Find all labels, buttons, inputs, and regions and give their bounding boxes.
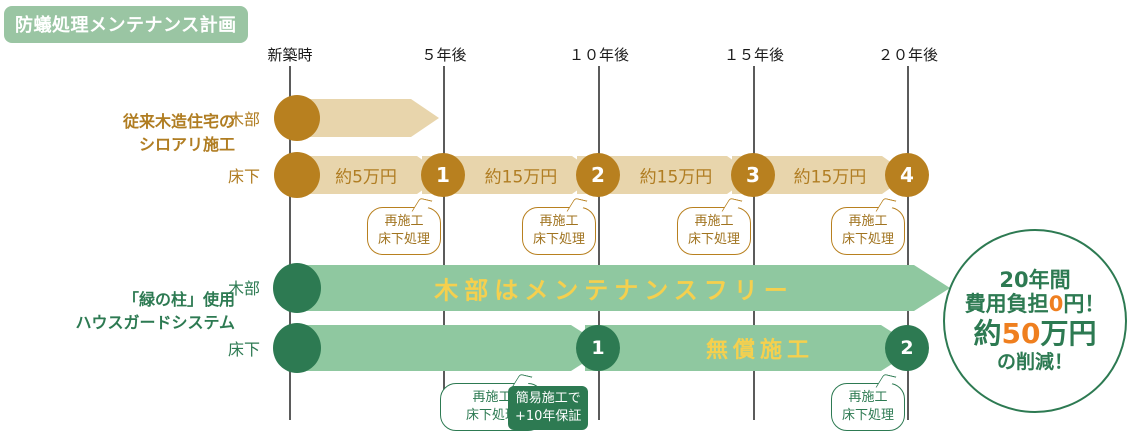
conventional-heading-line1: 従来木造住宅の (20, 110, 235, 133)
conventional-cost-2: 約15万円 (640, 163, 713, 188)
row-label-conventional-yukashita: 床下 (228, 163, 260, 187)
diagram-canvas: 防蟻処理メンテナンス計画 新築時 ５年後 １０年後 １５年後 ２０年後 従来木造… (0, 0, 1129, 433)
row-label-houseguard-kibu: 木部 (228, 275, 260, 299)
row-label-conventional-kibu: 木部 (228, 106, 260, 130)
conventional-callout-2-line1: 再施工 (688, 213, 740, 231)
callout-tail-icon (567, 198, 588, 215)
timeline-tick-label-0: 新築時 (267, 44, 312, 65)
result-badge: 20年間 費用負担0円！ 約50万円 の削減！ (943, 229, 1127, 413)
conventional-cost-1: 約15万円 (485, 163, 558, 188)
conventional-node-start[interactable] (274, 152, 320, 198)
houseguard-callout-1-line2: 床下処理 (842, 407, 894, 425)
conventional-callout-1: 再施工 床下処理 (522, 207, 596, 255)
houseguard-yukashita-bar-text: 無償施工 (706, 332, 814, 364)
conventional-cost-0: 約5万円 (335, 163, 397, 188)
conventional-heading-line2: シロアリ施工 (20, 133, 235, 156)
houseguard-node-2[interactable]: 2 (885, 325, 929, 371)
houseguard-kibu-node-start[interactable] (273, 263, 321, 313)
conventional-node-3[interactable]: 3 (731, 153, 775, 197)
conventional-callout-1-line1: 再施工 (533, 213, 585, 231)
page-title: 防蟻処理メンテナンス計画 (4, 6, 248, 43)
callout-tail-icon (722, 198, 743, 215)
conventional-node-4[interactable]: 4 (885, 153, 929, 197)
conventional-callout-3-line2: 床下処理 (842, 231, 894, 249)
houseguard-node-start[interactable] (273, 323, 321, 373)
timeline-tick-label-4: ２０年後 (878, 44, 938, 65)
houseguard-warranty-chip-line2: +10年保証 (515, 408, 581, 426)
timeline-tick-label-1: ５年後 (421, 44, 466, 65)
conventional-heading: 従来木造住宅の シロアリ施工 (20, 110, 235, 156)
conventional-node-2[interactable]: 2 (576, 153, 620, 197)
result-badge-line2: 費用負担0円！ (965, 292, 1106, 317)
conventional-kibu-node-start[interactable] (274, 95, 320, 141)
callout-tail-icon (876, 374, 897, 391)
houseguard-callout-1: 再施工 床下処理 (831, 383, 905, 431)
houseguard-warranty-chip: 簡易施工で +10年保証 (508, 386, 588, 430)
houseguard-warranty-chip-line1: 簡易施工で (515, 390, 581, 408)
houseguard-heading: 「緑の柱」使用 ハウスガードシステム (10, 288, 235, 334)
result-badge-line4: の削減！ (997, 351, 1073, 374)
conventional-node-1[interactable]: 1 (421, 153, 465, 197)
result-badge-line3-b: 50 (1002, 317, 1041, 350)
houseguard-callout-1-line1: 再施工 (842, 389, 894, 407)
conventional-callout-2-line2: 床下処理 (688, 231, 740, 249)
callout-tail-icon (876, 198, 897, 215)
conventional-callout-1-line2: 床下処理 (533, 231, 585, 249)
houseguard-node-1[interactable]: 1 (576, 325, 620, 371)
row-label-houseguard-yukashita: 床下 (228, 336, 260, 360)
result-badge-line3-a: 約 (974, 317, 1002, 350)
houseguard-kibu-bar-text: 木部はメンテナンスフリー (434, 271, 794, 306)
conventional-callout-3-line1: 再施工 (842, 213, 894, 231)
houseguard-heading-line2: ハウスガードシステム (10, 311, 235, 334)
result-badge-line1: 20年間 (999, 268, 1070, 292)
conventional-callout-0-line2: 床下処理 (378, 231, 430, 249)
result-badge-line2-c: 円！ (1063, 292, 1105, 316)
result-badge-line2-a: 費用負担 (965, 292, 1049, 316)
callout-tail-icon (412, 198, 433, 215)
result-badge-line3: 約50万円 (974, 317, 1097, 351)
conventional-cost-3: 約15万円 (794, 163, 867, 188)
result-badge-line3-c: 万円 (1040, 317, 1096, 350)
conventional-callout-0: 再施工 床下処理 (367, 207, 441, 255)
conventional-callout-3: 再施工 床下処理 (831, 207, 905, 255)
conventional-callout-2: 再施工 床下処理 (677, 207, 751, 255)
timeline-tick-label-3: １５年後 (724, 44, 784, 65)
conventional-callout-0-line1: 再施工 (378, 213, 430, 231)
result-badge-line2-b: 0 (1049, 292, 1064, 316)
timeline-tick-label-2: １０年後 (569, 44, 629, 65)
houseguard-heading-line1: 「緑の柱」使用 (10, 288, 235, 311)
